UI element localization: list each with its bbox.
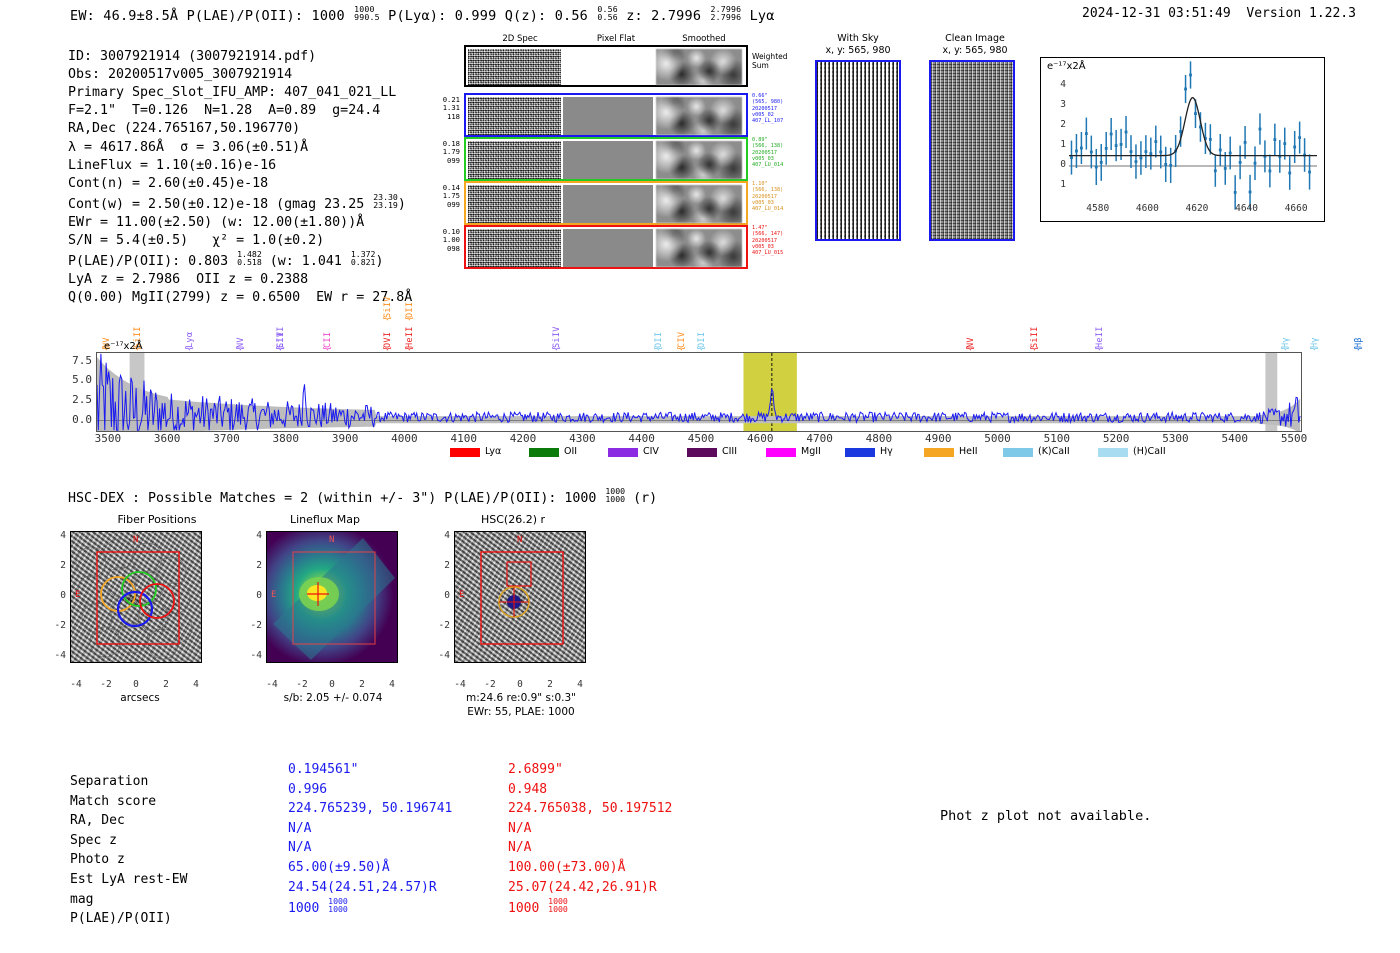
- sp-xtick-5000: 5000: [976, 432, 1020, 445]
- fiber-3-info: 1.10" (566, 138) 20200517 v005_03 407_LU…: [752, 181, 783, 212]
- sp-xtick-5300: 5300: [1153, 432, 1197, 445]
- legend-swatch-mgii: [766, 448, 796, 457]
- lineflux-map-ytick-4: -4: [242, 650, 262, 661]
- table-cell-c1-r0: 2.6899": [508, 760, 672, 780]
- cutout-clean-image: [929, 60, 1015, 241]
- emission-line-bracket-5: {: [276, 346, 286, 351]
- sp-ytick-5.0: 5.0: [58, 373, 92, 386]
- emission-line-bracket-12: {: [654, 346, 664, 351]
- legend-label-lyα: Lyα: [485, 446, 501, 457]
- legend-label-(k)caii: (K)CaII: [1038, 446, 1070, 457]
- sp-xtick-4700: 4700: [798, 432, 842, 445]
- fiber-3-weights: 0.14 1.75 099: [428, 184, 460, 209]
- emission-line-bracket-7: {: [383, 346, 393, 351]
- fiber-positions-overlay: [71, 532, 201, 662]
- sp-xtick-3700: 3700: [204, 432, 248, 445]
- emission-line-bracket-19: {: [1310, 346, 1320, 351]
- sp-xtick-5400: 5400: [1213, 432, 1257, 445]
- table-row-label-4: Photo z: [70, 850, 187, 870]
- fiber-positions-xlabel: arcsecs: [100, 692, 180, 704]
- line-profile-plot: e⁻¹⁷x2Å: [1040, 57, 1325, 222]
- legend-label-ciii: CIII: [722, 446, 737, 457]
- sp-xtick-3800: 3800: [264, 432, 308, 445]
- info-line-cont-w: Cont(w) = 2.50(±0.12)e-18 (gmag 23.25 23…: [68, 197, 406, 212]
- z-fraction: 2.79962.7996: [710, 5, 741, 22]
- lineflux-map-ytick-2: 0: [242, 590, 262, 601]
- emission-line-label-siiv-8: SiIV: [383, 282, 393, 318]
- legend-swatch-ciii: [687, 448, 717, 457]
- table-cell-c0-r0: 0.194561": [288, 760, 452, 780]
- emission-line-label-nv-3: NV: [236, 312, 246, 348]
- header-z-text: z: 2.7996: [618, 8, 710, 24]
- compass-north-label-3: N: [517, 535, 522, 545]
- header-datetime-version: 2024-12-31 03:51:49 Version 1.22.3: [1082, 6, 1356, 21]
- emission-line-bracket-13: {: [677, 346, 687, 351]
- table-row-label-3: Spec z: [70, 831, 187, 851]
- fiber-4-weights: 0.10 1.00 098: [428, 228, 460, 253]
- fiber-positions-ytick-2: 0: [46, 590, 66, 601]
- cutout-with-sky: [815, 60, 901, 241]
- info-line-ewr: EWr = 11.00(±2.50) (w: 12.00(±1.80))Å: [68, 215, 364, 230]
- legend-swatch-(k)caii: [1003, 448, 1033, 457]
- emission-line-label-hγ-18: Hγ: [1281, 312, 1291, 348]
- line-profile-svg: [1041, 58, 1324, 221]
- table-cell-c1-r2: 224.765038, 50.197512: [508, 799, 672, 819]
- hsc-sub-2: EWr: 55, PLAE: 1000: [448, 706, 594, 718]
- sp-xtick-4900: 4900: [916, 432, 960, 445]
- emission-line-bracket-8: {: [383, 316, 393, 321]
- emission-line-bracket-14: {: [697, 346, 707, 351]
- legend-label-hγ: Hγ: [880, 446, 893, 457]
- legend-swatch-lyα: [450, 448, 480, 457]
- hsc-r-ytick-4: -4: [430, 650, 450, 661]
- legend-label-heii: HeII: [959, 446, 978, 457]
- report-version: Version 1.22.3: [1246, 6, 1356, 21]
- table-cell-c1-r5: 100.00(±73.00)Å: [508, 858, 672, 878]
- lp-ytick-1: 1: [1052, 179, 1066, 190]
- panel-fiber-positions-title: Fiber Positions: [82, 513, 232, 526]
- legend-swatch-hγ: [845, 448, 875, 457]
- fiber-2-info: 0.89" (566, 138) 20200517 v005_03 407_LU…: [752, 137, 783, 168]
- cutout-2-subtitle: x, y: 565, 980: [927, 45, 1023, 56]
- hsc-r-ytick-0: 4: [430, 530, 450, 541]
- hsc-image: N E: [454, 531, 586, 663]
- legend-label-oii: OII: [564, 446, 577, 457]
- lineflux-sub: s/b: 2.05 +/- 0.074: [272, 692, 394, 704]
- legend-label-civ: CIV: [643, 446, 659, 457]
- compass-north-label-2: N: [329, 535, 334, 545]
- hsc-r-ytick-1: 2: [430, 560, 450, 571]
- lp-xtick-4580: 4580: [1082, 203, 1114, 214]
- lp-xtick-4620: 4620: [1181, 203, 1213, 214]
- cutout-2-title: Clean Image: [927, 33, 1023, 44]
- info-line-redshifts: LyA z = 2.7986 OII z = 0.2388: [68, 272, 308, 287]
- cutout-1-title: With Sky: [815, 33, 901, 44]
- source-info-block: ID: 3007921914 (3007921914.pdf) Obs: 202…: [68, 30, 412, 307]
- table-cell-c0-r7: 1000 10001000: [288, 897, 452, 918]
- fiber-positions-xtick-0: -4: [65, 679, 87, 690]
- match-table-labels: SeparationMatch scoreRA, DecSpec zPhoto …: [70, 772, 187, 929]
- table-cell-c1-r6: 25.07(24.42,26.91)R: [508, 878, 672, 898]
- qz-fraction: 0.560.56: [597, 5, 618, 22]
- plae-fraction-2: 1.3720.821: [351, 250, 376, 267]
- table-cell-c1-r1: 0.948: [508, 780, 672, 800]
- fiber-2-weights: 0.18 1.79 099: [428, 140, 460, 165]
- sp-xtick-4600: 4600: [738, 432, 782, 445]
- table-row-label-5: Est LyA rest-EW: [70, 870, 187, 890]
- fiber-positions-xtick-3: 2: [155, 679, 177, 690]
- fiber-4-info: 1.47" (566, 147) 20200517 v005_03 407_LU…: [752, 225, 783, 256]
- emission-line-bracket-9: {: [405, 346, 415, 351]
- emission-line-bracket-11: {: [552, 346, 562, 351]
- emission-line-label-oii-14: OII: [697, 312, 707, 348]
- sp-xtick-5100: 5100: [1035, 432, 1079, 445]
- hsc-r-xtick-4: 4: [569, 679, 591, 690]
- lineflux-map-xtick-4: 4: [381, 679, 403, 690]
- sp-xtick-5200: 5200: [1094, 432, 1138, 445]
- fiber-row-2: [464, 137, 748, 181]
- hsc-r-ytick-3: -2: [430, 620, 450, 631]
- sp-xtick-4000: 4000: [382, 432, 426, 445]
- compass-north-label-1: N: [133, 535, 138, 545]
- emission-line-label-oii-10: OII: [405, 282, 415, 318]
- sp-xtick-5500: 5500: [1272, 432, 1316, 445]
- emission-line-label-lyα-2: Lyα: [185, 312, 195, 348]
- compass-east-label-2: E: [271, 590, 276, 600]
- legend-swatch-(h)caii: [1098, 448, 1128, 457]
- lineflux-map-image: N E: [266, 531, 398, 663]
- header-ew-plae-text: EW: 46.9±8.5Å P(LAE)/P(OII): 1000: [70, 8, 353, 24]
- table-cell-c0-r3: N/A: [288, 819, 452, 839]
- fiber-positions-ytick-4: -4: [46, 650, 66, 661]
- fiber-positions-xtick-1: -2: [95, 679, 117, 690]
- fiber-positions-image: N E: [70, 531, 202, 663]
- lineflux-map-xtick-3: 2: [351, 679, 373, 690]
- lp-ytick-2: 2: [1052, 119, 1066, 130]
- emission-line-label-siii-16: SiII: [1030, 312, 1040, 348]
- emission-line-bracket-17: {: [1095, 346, 1105, 351]
- lineflux-map-svg: [267, 532, 397, 662]
- match-table-col-1: 0.194561"0.996224.765239, 50.196741N/AN/…: [288, 760, 452, 919]
- emission-line-bracket-2: {: [185, 346, 195, 351]
- emission-line-bracket-3: {: [236, 346, 246, 351]
- sp-ytick-2.5: 2.5: [58, 393, 92, 406]
- panel-title-2dspec: 2D Spec: [485, 34, 555, 44]
- photz-not-available-notice: Phot z plot not available.: [940, 808, 1151, 824]
- panel-title-smoothed: Smoothed: [665, 34, 743, 44]
- table-cell-c0-r2: 224.765239, 50.196741: [288, 799, 452, 819]
- info-line-lineflux: LineFlux = 1.10(±0.16)e-16: [68, 158, 276, 173]
- info-line-sn: S/N = 5.4(±0.5) χ² = 1.0(±0.2): [68, 233, 324, 248]
- fiber-1-info: 0.66" (565, 980) 20200517 v005_02 407_LL…: [752, 93, 783, 124]
- legend-swatch-civ: [608, 448, 638, 457]
- table-row-label-0: Separation: [70, 772, 187, 792]
- fiber-positions-ytick-1: 2: [46, 560, 66, 571]
- table-cell-c1-r7: 1000 10001000: [508, 897, 672, 918]
- header-plya-qz-text: P(Lyα): 0.999 Q(z): 0.56: [380, 8, 597, 24]
- lineflux-map-ytick-0: 4: [242, 530, 262, 541]
- emission-line-label-siiv-11: SiIV: [552, 312, 562, 348]
- sp-xtick-3500: 3500: [86, 432, 130, 445]
- compass-east-label-3: E: [459, 590, 464, 600]
- compass-east-label-1: E: [75, 590, 80, 600]
- sp-xtick-3900: 3900: [323, 432, 367, 445]
- sp-xtick-4100: 4100: [442, 432, 486, 445]
- lp-ytick-3: 3: [1052, 99, 1066, 110]
- emission-line-label-oii-12: OII: [654, 312, 664, 348]
- panel-lineflux-title: Lineflux Map: [250, 513, 400, 526]
- legend-swatch-heii: [924, 448, 954, 457]
- lp-ytick-0: 0: [1052, 159, 1066, 170]
- hsc-r-xtick-3: 2: [539, 679, 561, 690]
- lp-ytick-1: 1: [1052, 139, 1066, 150]
- sp-xtick-4200: 4200: [501, 432, 545, 445]
- spectrum-units: e⁻¹⁷x2Å: [104, 341, 143, 352]
- table-row-label-1: Match score: [70, 792, 187, 812]
- header-line-id: Lyα: [741, 8, 774, 24]
- table-cell-c0-r5: 65.00(±9.50)Å: [288, 858, 452, 878]
- hsc-r-xtick-1: -2: [479, 679, 501, 690]
- gmag-fraction: 23.3023.19: [373, 193, 398, 210]
- panel-title-pixelflat: Pixel Flat: [578, 34, 654, 44]
- emission-line-bracket-10: {: [405, 316, 415, 321]
- lp-xtick-4660: 4660: [1280, 203, 1312, 214]
- fiber-positions-xtick-4: 4: [185, 679, 207, 690]
- hsc-overlay: [455, 532, 585, 662]
- info-line-radec: RA,Dec (224.765167,50.196770): [68, 121, 300, 136]
- emission-line-label-hβ-20: Hβ: [1354, 312, 1364, 348]
- lp-xtick-4600: 4600: [1131, 203, 1163, 214]
- fiber-row-3: [464, 181, 748, 225]
- lp-xtick-4640: 4640: [1231, 203, 1263, 214]
- emission-line-label-siii-5: SiII: [276, 312, 286, 348]
- hscdex-headline: HSC-DEX : Possible Matches = 2 (within +…: [68, 487, 657, 506]
- weighted-sum-label: Weighted Sum: [752, 52, 788, 70]
- table-row-label-2: RA, Dec: [70, 811, 187, 831]
- sp-xtick-4500: 4500: [679, 432, 723, 445]
- emission-line-label-civ-13: CIV: [677, 312, 687, 348]
- header-summary-line: EW: 46.9±8.5Å P(LAE)/P(OII): 1000 100099…: [70, 5, 775, 24]
- hsc-sub-1: m:24.6 re:0.9" s:0.3": [448, 692, 594, 704]
- cutout-1-subtitle: x, y: 565, 980: [810, 45, 906, 56]
- match-table-col-2: 2.6899"0.948224.765038, 50.197512N/AN/A1…: [508, 760, 672, 919]
- emission-line-bracket-20: {: [1354, 346, 1364, 351]
- fiber-row-1: [464, 93, 748, 137]
- sp-xtick-4300: 4300: [560, 432, 604, 445]
- info-line-id: ID: 3007921914 (3007921914.pdf): [68, 49, 316, 64]
- plae-fraction-1: 1.4820.518: [237, 250, 262, 267]
- emission-line-bracket-16: {: [1030, 346, 1040, 351]
- emission-line-label-heii-17: HeII: [1095, 312, 1105, 348]
- lp-ytick-4: 4: [1052, 79, 1066, 90]
- table-cell-c0-r4: N/A: [288, 838, 452, 858]
- full-spectrum-svg: [97, 353, 1301, 431]
- table-row-label-7: P(LAE)/P(OII): [70, 909, 187, 929]
- lineflux-map-xtick-1: -2: [291, 679, 313, 690]
- hsc-r-xtick-2: 0: [509, 679, 531, 690]
- sp-xtick-4400: 4400: [620, 432, 664, 445]
- emission-line-label-nv-15: NV: [966, 312, 976, 348]
- info-line-plae: P(LAE)/P(OII): 0.803 1.4820.518 (w: 1.04…: [68, 254, 384, 269]
- sp-ytick-0.0: 0.0: [58, 413, 92, 426]
- sp-ytick-7.5: 7.5: [58, 354, 92, 367]
- legend-label-(h)caii: (H)CaII: [1133, 446, 1166, 457]
- table-cell-c1-r4: N/A: [508, 838, 672, 858]
- emission-line-bracket-18: {: [1281, 346, 1291, 351]
- fiber-row-4: [464, 225, 748, 269]
- emission-line-label-hγ-19: Hγ: [1310, 312, 1320, 348]
- hscdex-plae-fraction: 10001000: [605, 487, 625, 504]
- legend-label-mgii: MgII: [801, 446, 821, 457]
- lineflux-map-xtick-0: -4: [261, 679, 283, 690]
- fiber-positions-ytick-3: -2: [46, 620, 66, 631]
- table-cell-c1-r3: N/A: [508, 819, 672, 839]
- fiber-positions-ytick-0: 4: [46, 530, 66, 541]
- lineflux-map-ytick-1: 2: [242, 560, 262, 571]
- weighted-sum-row: [464, 45, 748, 87]
- table-cell-c0-r1: 0.996: [288, 780, 452, 800]
- legend-swatch-oii: [529, 448, 559, 457]
- info-line-obs: Obs: 20200517v005_3007921914: [68, 67, 292, 82]
- info-line-lambda: λ = 4617.86Å σ = 3.06(±0.51)Å: [68, 140, 308, 155]
- info-line-cont-n: Cont(n) = 2.60(±0.45)e-18: [68, 176, 268, 191]
- emission-line-bracket-15: {: [966, 346, 976, 351]
- emission-line-label-cii-6: CII: [323, 312, 333, 348]
- info-line-ifu: Primary Spec_Slot_IFU_AMP: 407_041_021_L…: [68, 85, 396, 100]
- plae-fraction: 1000990.5: [354, 5, 380, 22]
- info-line-q: Q(0.00) MgII(2799) z = 0.6500 EW r = 27.…: [68, 290, 412, 305]
- info-line-seeing: F=2.1" T=0.126 N=1.28 A=0.89 g=24.4: [68, 103, 380, 118]
- hsc-r-ytick-2: 0: [430, 590, 450, 601]
- full-spectrum-plot: [96, 352, 1302, 432]
- sp-xtick-3600: 3600: [145, 432, 189, 445]
- lineflux-map-xtick-2: 0: [321, 679, 343, 690]
- table-cell-c0-r6: 24.54(24.51,24.57)R: [288, 878, 452, 898]
- table-row-label-6: mag: [70, 890, 187, 910]
- lineflux-map-ytick-3: -2: [242, 620, 262, 631]
- hsc-r-xtick-0: -4: [449, 679, 471, 690]
- fiber-positions-xtick-2: 0: [125, 679, 147, 690]
- sp-xtick-4800: 4800: [857, 432, 901, 445]
- panel-hsc-title: HSC(26.2) r: [438, 513, 588, 526]
- fiber-1-weights: 0.21 1.31 118: [428, 96, 460, 121]
- report-datetime: 2024-12-31 03:51:49: [1082, 6, 1231, 21]
- emission-line-bracket-6: {: [323, 346, 333, 351]
